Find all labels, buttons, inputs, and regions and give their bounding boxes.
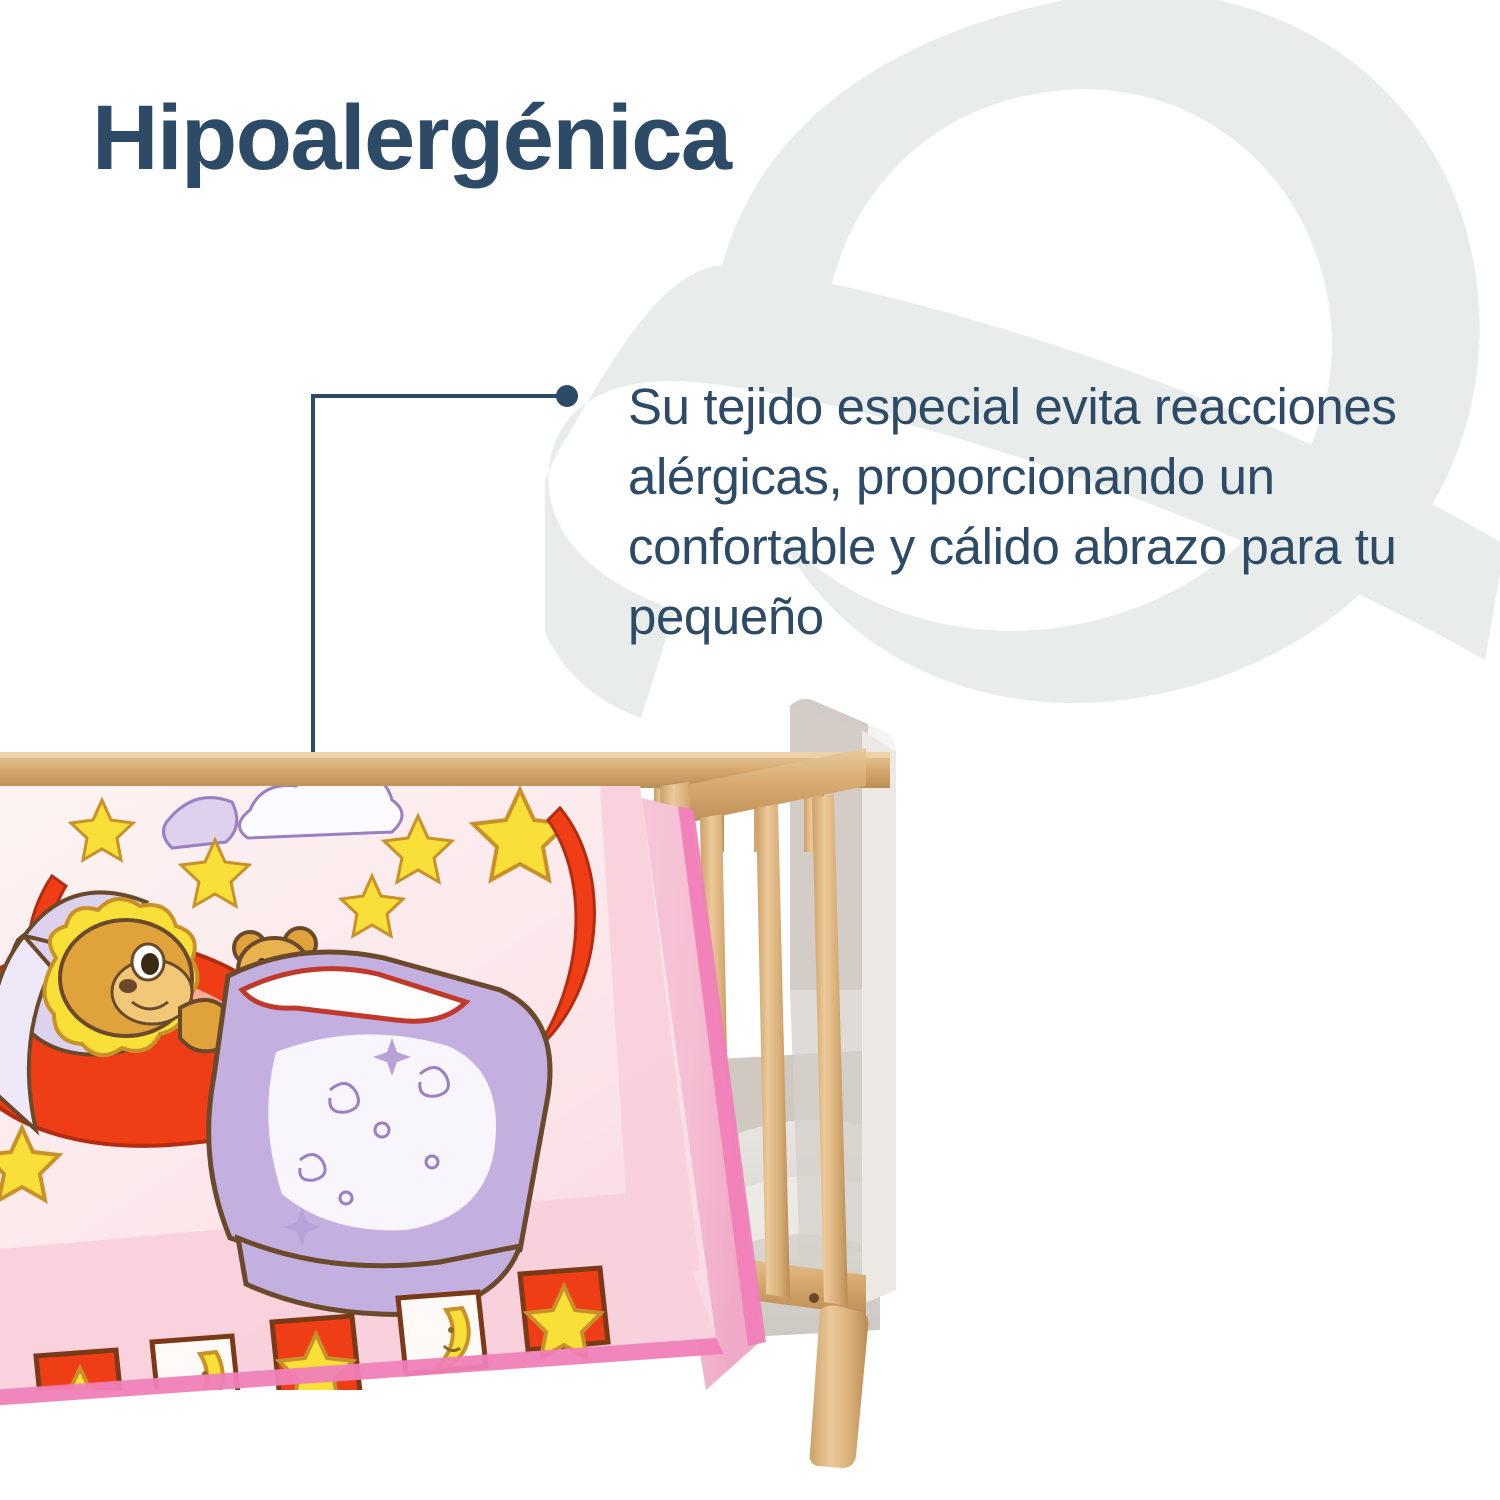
promo-canvas: Hipoalergénica Su tejido especial evita … xyxy=(0,0,1500,1500)
blanket-bear-coverlet xyxy=(209,952,550,1314)
page-title: Hipoalergénica xyxy=(92,92,731,184)
product-blanket xyxy=(0,772,766,1440)
border-tile-star xyxy=(520,1268,608,1358)
product-photo-crib-with-blanket xyxy=(0,690,960,1500)
border-tile-star xyxy=(272,1316,360,1406)
callout-bullet-dot xyxy=(556,385,578,407)
callout-body-text: Su tejido especial evita reacciones alér… xyxy=(628,372,1458,651)
